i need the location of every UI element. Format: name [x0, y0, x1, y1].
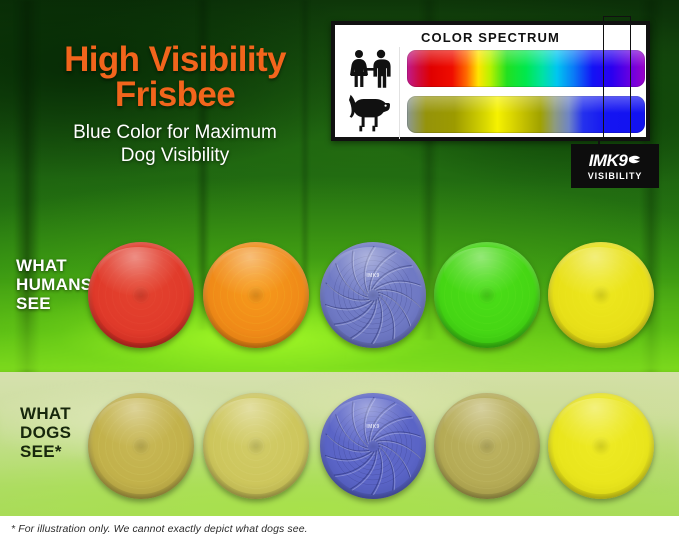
dog-silhouette-icon — [345, 121, 397, 138]
row-label-humans: WHAT HUMANS SEE — [16, 256, 92, 313]
infographic-stage: * For illustration only. We cannot exact… — [0, 0, 679, 543]
disc-highlight-gloss — [330, 247, 413, 296]
disc-highlight-gloss — [558, 398, 641, 447]
disc-highlight-gloss — [213, 247, 296, 296]
row-label-dogs: WHAT DOGS SEE* — [20, 404, 71, 461]
disc-green-dogvision — [434, 393, 540, 499]
row-label-dogs-line-3: SEE* — [20, 442, 71, 461]
color-spectrum-panel: COLOR SPECTRUM — [331, 21, 650, 141]
imk9-logo-mark: IMK9 — [589, 152, 642, 169]
disc-red-dogvision — [88, 393, 194, 499]
disc-red — [88, 242, 194, 348]
row-label-dogs-line-1: WHAT — [20, 404, 71, 423]
row-label-humans-line-2: HUMANS — [16, 275, 92, 294]
disc-highlight-gloss — [330, 398, 413, 447]
headline-block: High Visibility Frisbee Blue Color for M… — [30, 42, 320, 167]
imk9-logo-badge: IMK9 VISIBILITY — [571, 144, 659, 188]
disc-brand-label: IMK9 — [366, 273, 379, 279]
disc-orange — [203, 242, 309, 348]
disc-blue: IMK9 — [320, 242, 426, 348]
disc-brand-label: IMK9 — [366, 424, 379, 430]
blue-range-highlight-box — [603, 16, 631, 138]
disc-highlight-gloss — [98, 398, 181, 447]
spectrum-icon-divider — [399, 47, 400, 139]
spectrum-icon-column — [345, 49, 397, 137]
disc-highlight-gloss — [444, 398, 527, 447]
disc-yellow — [548, 242, 654, 348]
man-and-woman-icon — [345, 76, 397, 93]
imk9-logo-text: IMK9 — [589, 152, 628, 169]
dog-head-swoosh-icon — [628, 154, 641, 167]
disc-orange-dogvision — [203, 393, 309, 499]
headline-line-2: Frisbee — [30, 77, 320, 112]
imk9-logo-tagline: VISIBILITY — [588, 171, 643, 181]
disc-highlight-gloss — [98, 247, 181, 296]
disc-yellow-dogvision — [548, 393, 654, 499]
headline-line-1: High Visibility — [30, 42, 320, 77]
disc-highlight-gloss — [213, 398, 296, 447]
row-label-humans-line-1: WHAT — [16, 256, 92, 275]
headline-subtitle-line-1: Blue Color for Maximum — [30, 121, 320, 144]
row-label-dogs-line-2: DOGS — [20, 423, 71, 442]
footer-disclaimer: * For illustration only. We cannot exact… — [11, 523, 308, 535]
row-label-humans-line-3: SEE — [16, 294, 92, 313]
disc-green — [434, 242, 540, 348]
disc-highlight-gloss — [444, 247, 527, 296]
disc-highlight-gloss — [558, 247, 641, 296]
headline-subtitle: Blue Color for Maximum Dog Visibility — [30, 121, 320, 167]
headline-subtitle-line-2: Dog Visibility — [30, 144, 320, 167]
disc-blue-dogvision: IMK9 — [320, 393, 426, 499]
spectrum-panel-title: COLOR SPECTRUM — [335, 30, 646, 45]
